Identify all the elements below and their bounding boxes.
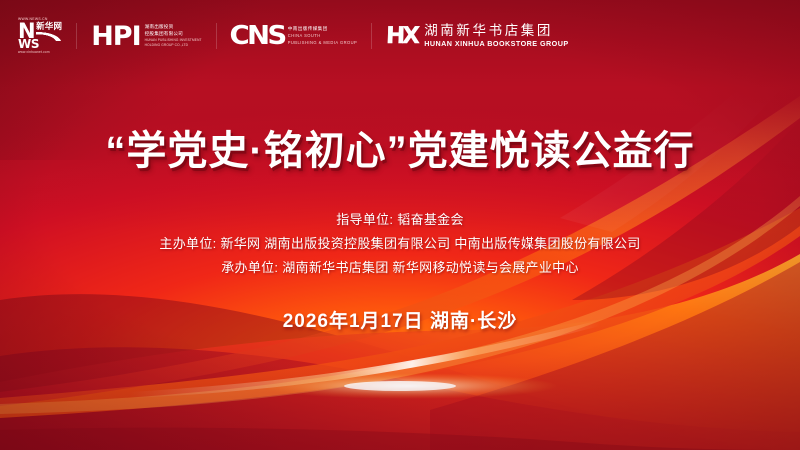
hpi-wordmark: HPI [91, 23, 140, 50]
cns-en-line2: PUBLISHING & MEDIA GROUP [288, 40, 358, 46]
hx-en-name: HUNAN XINHUA BOOKSTORE GROUP [424, 40, 568, 48]
organizer-line-organizer: 承办单位: 湖南新华书店集团 新华网移动悦读与会展产业中心 [0, 256, 800, 280]
logo-divider [371, 23, 372, 49]
xinhua-news-logo: WWW.NEWS.CN N 新华网 WS www.xinhuanet.com [18, 18, 62, 54]
cns-en-line1: CHINA SOUTH [288, 33, 358, 39]
hpi-logo: HPI 湖南出版投资 控股集团有限公司 HUNAN PUBLISHING INV… [91, 18, 201, 54]
cns-logo: CNS 中南出版传媒集团 CHINA SOUTH PUBLISHING & ME… [231, 18, 358, 54]
date-location: 2026年1月17日 湖南·长沙 [0, 306, 800, 333]
hpi-en-line1: HUNAN PUBLISHING INVESTMENT [145, 38, 202, 42]
cns-cn-name: 中南出版传媒集团 [288, 26, 358, 32]
hx-wordmark: HX [386, 25, 418, 48]
logo-divider [76, 23, 77, 49]
hx-cn-name: 湖南新华书店集团 [424, 24, 568, 39]
organizer-line-host: 主办单位: 新华网 湖南出版投资控股集团有限公司 中南出版传媒集团股份有限公司 [0, 232, 800, 256]
sponsor-logo-bar: WWW.NEWS.CN N 新华网 WS www.xinhuanet.com H… [18, 16, 569, 56]
logo-divider [216, 23, 217, 49]
poster-canvas: WWW.NEWS.CN N 新华网 WS www.xinhuanet.com H… [0, 0, 800, 450]
hpi-en-line2: HOLDING GROUP CO.,LTD [145, 43, 202, 47]
cns-wordmark: CNS [229, 23, 284, 49]
hunan-xinhua-bookstore-logo: HX 湖南新华书店集团 HUNAN XINHUA BOOKSTORE GROUP [386, 18, 568, 54]
xinhua-news-mark-ws: WS [18, 38, 39, 50]
hpi-cn-line2: 控股集团有限公司 [145, 31, 202, 37]
poster-title: “学党史·铭初心”党建悦读公益行 [0, 118, 800, 176]
xinhua-news-swoosh-icon [36, 32, 62, 41]
organizer-block: 指导单位: 韬奋基金会 主办单位: 新华网 湖南出版投资控股集团有限公司 中南出… [0, 208, 800, 280]
organizer-line-guidance: 指导单位: 韬奋基金会 [0, 208, 800, 232]
xinhua-news-hanzi: 新华网 [36, 22, 62, 31]
xinhua-news-url-bottom: www.xinhuanet.com [18, 51, 50, 54]
